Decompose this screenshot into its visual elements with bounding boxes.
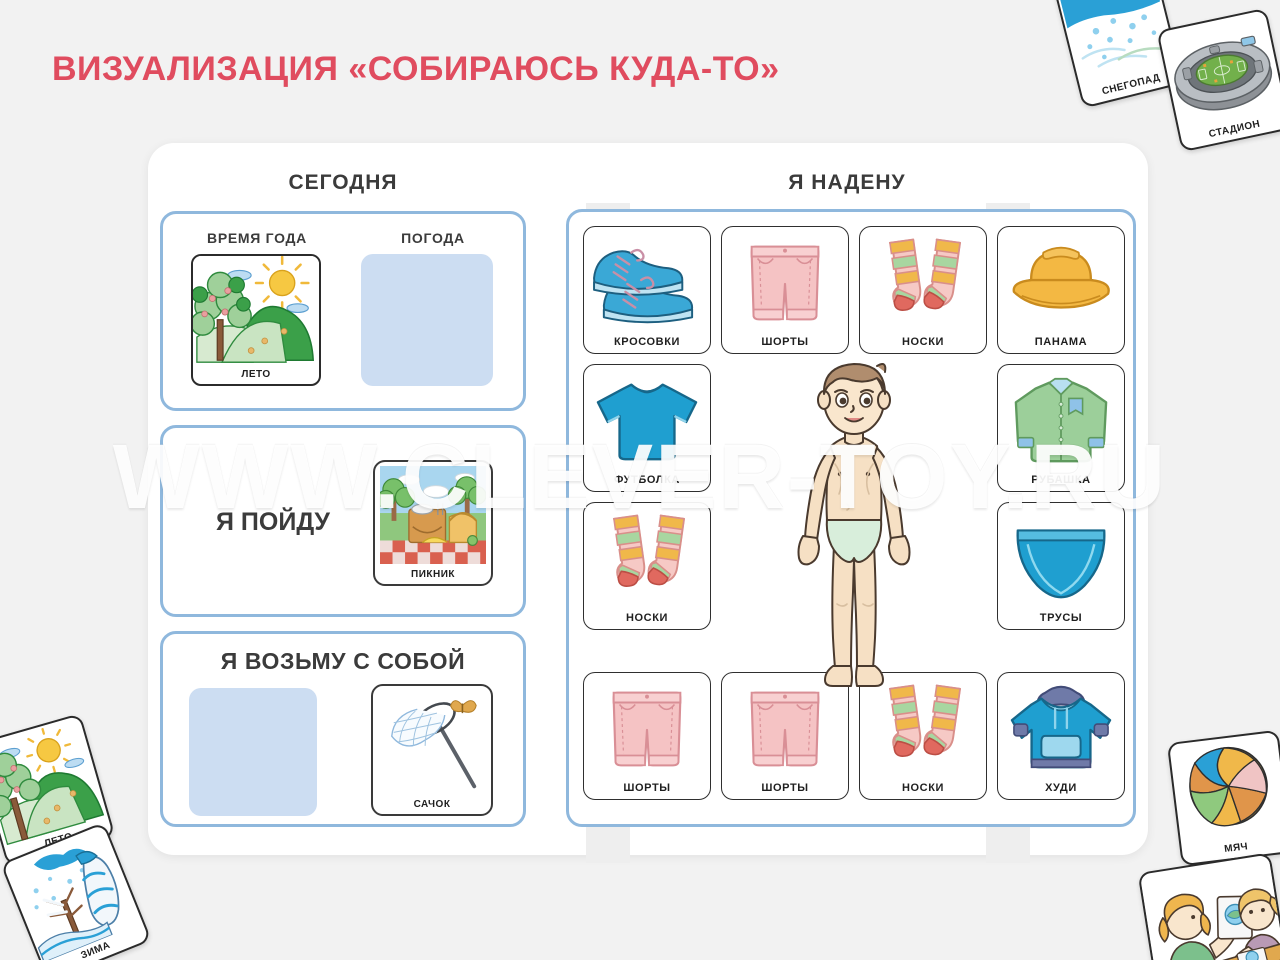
weather-label: ПОГОДА — [353, 230, 513, 246]
take-card-net[interactable]: САЧОК — [371, 684, 493, 816]
tshirt-icon — [584, 369, 710, 471]
clothing-card-shirt[interactable]: РУБАШКА — [997, 364, 1125, 492]
card-caption: ФУТБОЛКА — [584, 474, 710, 486]
children-icon — [1140, 857, 1280, 960]
page-title: ВИЗУАЛИЗАЦИЯ «СОБИРАЮСЬ КУДА-ТО» — [52, 50, 780, 89]
today-heading: СЕГОДНЯ — [158, 171, 528, 195]
card-caption: РУБАШКА — [998, 474, 1124, 486]
hoodie-icon — [998, 677, 1124, 779]
clothing-card-hat[interactable]: ПАНАМА — [997, 226, 1125, 354]
card-caption: НОСКИ — [584, 612, 710, 624]
season-card-summer[interactable]: ЛЕТО — [191, 254, 321, 386]
underwear-icon — [998, 507, 1124, 609]
card-caption: САЧОК — [373, 799, 491, 814]
shirt-icon — [998, 369, 1124, 471]
card-caption: ШОРТЫ — [584, 782, 710, 794]
loose-card-children[interactable] — [1138, 852, 1280, 960]
socks-icon — [584, 507, 710, 609]
butterfly-net-icon — [378, 690, 486, 794]
wear-heading: Я НАДЕНУ — [558, 171, 1136, 195]
shorts-icon — [722, 231, 848, 333]
clothing-card-shorts-2[interactable]: ШОРТЫ — [583, 672, 711, 800]
picnic-icon — [380, 466, 486, 564]
clothing-card-socks-1[interactable]: НОСКИ — [859, 226, 987, 354]
card-caption: КРОСОВКИ — [584, 336, 710, 348]
clothing-card-socks-2[interactable]: НОСКИ — [583, 502, 711, 630]
clothing-card-shorts-1[interactable]: ШОРТЫ — [721, 226, 849, 354]
take-title: Я ВОЗЬМУ С СОБОЙ — [163, 648, 523, 675]
wear-panel: КРОСОВКИ — [566, 209, 1136, 827]
socks-icon — [860, 231, 986, 333]
loose-card-ball[interactable]: МЯЧ — [1167, 730, 1280, 867]
ball-icon — [1169, 734, 1280, 846]
clothing-card-tshirt[interactable]: ФУТБОЛКА — [583, 364, 711, 492]
season-label: ВРЕМЯ ГОДА — [177, 230, 337, 246]
going-panel: Я ПОЙДУ — [160, 425, 526, 617]
card-caption: ПИКНИК — [375, 569, 491, 584]
card-caption: ШОРТЫ — [722, 782, 848, 794]
take-panel: Я ВОЗЬМУ С СОБОЙ — [160, 631, 526, 827]
card-caption: ЛЕТО — [193, 369, 319, 384]
shorts-icon — [722, 677, 848, 779]
card-caption: НОСКИ — [860, 782, 986, 794]
summer-icon — [193, 256, 319, 367]
shorts-icon — [584, 677, 710, 779]
weather-empty-slot[interactable] — [361, 254, 493, 386]
destination-card-picnic[interactable]: ПИКНИК — [373, 460, 493, 586]
today-panel: ВРЕМЯ ГОДА ПОГОДА — [160, 211, 526, 411]
card-caption: ХУДИ — [998, 782, 1124, 794]
clothing-card-sneakers[interactable]: КРОСОВКИ — [583, 226, 711, 354]
loose-card-stadium[interactable]: СТАДИОН — [1156, 8, 1280, 153]
going-title: Я ПОЙДУ — [183, 508, 363, 537]
screenshot-stage: ВИЗУАЛИЗАЦИЯ «СОБИРАЮСЬ КУДА-ТО» СЕГОДНЯ… — [0, 0, 1280, 960]
boy-figure — [761, 352, 947, 692]
socks-icon — [860, 677, 986, 779]
card-caption: ТРУСЫ — [998, 612, 1124, 624]
card-caption: ПАНАМА — [998, 336, 1124, 348]
card-caption: НОСКИ — [860, 336, 986, 348]
sneakers-icon — [584, 231, 710, 333]
take-empty-slot[interactable] — [189, 688, 317, 816]
clothing-card-underwear[interactable]: ТРУСЫ — [997, 502, 1125, 630]
hat-icon — [998, 231, 1124, 333]
clothing-card-hoodie[interactable]: ХУДИ — [997, 672, 1125, 800]
main-board: СЕГОДНЯ ВРЕМЯ ГОДА ПОГОДА — [148, 143, 1148, 855]
card-caption: ШОРТЫ — [722, 336, 848, 348]
stadium-icon — [1159, 12, 1280, 132]
